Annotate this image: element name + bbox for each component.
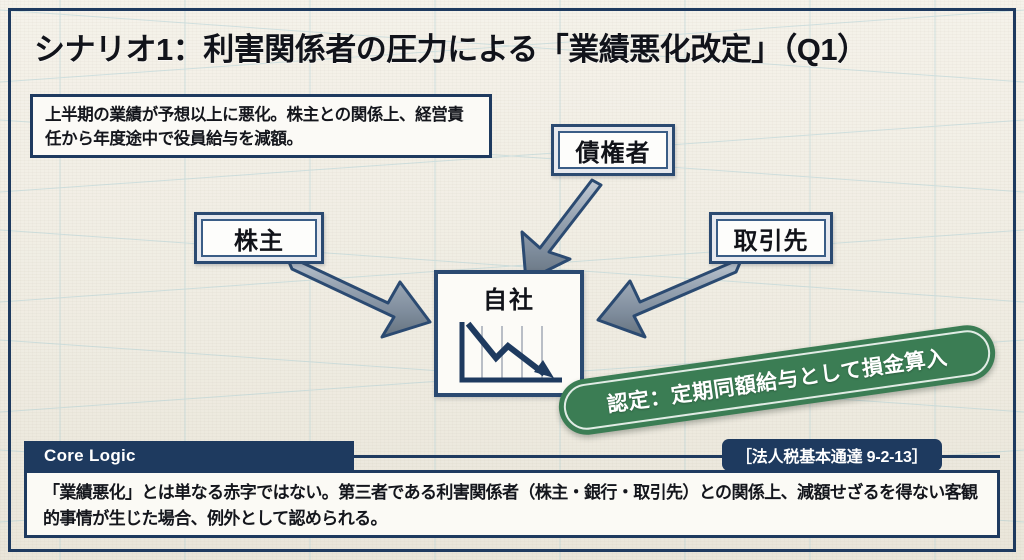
actor-box-partner[interactable]: 取引先 — [709, 212, 833, 264]
arrow-creditor-to-company — [522, 180, 601, 281]
core-logic-tab: Core Logic — [24, 441, 354, 471]
arrow-shareholder-to-company — [286, 255, 430, 337]
citation-label: ［法人税基本通達 9-2-13］ — [736, 443, 928, 467]
core-logic-label: Core Logic — [44, 446, 136, 466]
citation-badge: ［法人税基本通達 9-2-13］ — [722, 439, 942, 471]
actor-label-partner: 取引先 — [716, 219, 826, 257]
company-label: 自社 — [438, 280, 580, 315]
verdict-badge: 認定：定期同額給与として損金算入 — [555, 322, 999, 439]
core-logic-body: 「業績悪化」とは単なる赤字ではない。第三者である利害関係者（株主・銀行・取引先）… — [24, 470, 1000, 538]
actor-label-creditor: 債権者 — [558, 131, 668, 169]
verdict-label: 認定：定期同額給与として損金算入 — [605, 341, 949, 418]
actor-box-creditor[interactable]: 債権者 — [551, 124, 675, 176]
slide-title: シナリオ1：利害関係者の圧力による「業績悪化改定」（Q1） — [34, 24, 994, 69]
slide-canvas: シナリオ1：利害関係者の圧力による「業績悪化改定」（Q1） 上半期の業績が予想以… — [0, 0, 1024, 560]
actor-box-shareholder[interactable]: 株主 — [194, 212, 324, 264]
summary-note: 上半期の業績が予想以上に悪化。株主との関係上、経営責任から年度途中で役員給与を減… — [30, 94, 492, 158]
company-box[interactable]: 自社 — [434, 270, 584, 397]
actor-label-shareholder: 株主 — [201, 219, 317, 257]
arrow-partner-to-company — [598, 258, 742, 337]
declining-trend-icon — [446, 316, 574, 394]
